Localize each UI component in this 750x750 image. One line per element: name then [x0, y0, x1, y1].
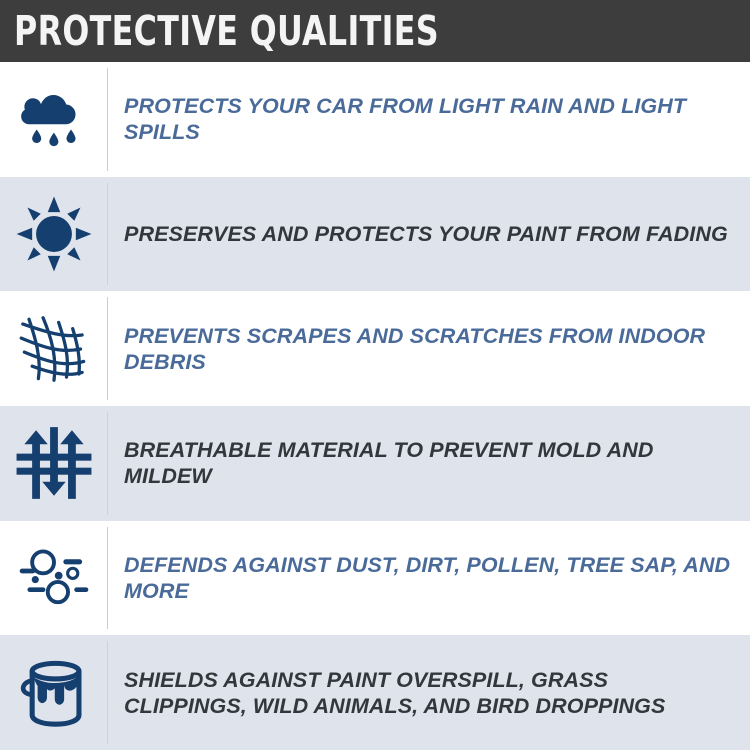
- list-item-label: PROTECTS YOUR CAR FROM LIGHT RAIN AND LI…: [124, 93, 736, 145]
- list-item: PRESERVES AND PROTECTS YOUR PAINT FROM F…: [0, 177, 750, 292]
- icon-cell: [0, 177, 108, 292]
- text-cell: PREVENTS SCRAPES AND SCRATCHES FROM INDO…: [108, 291, 750, 406]
- header-bar: PROTECTIVE QUALITIES: [0, 0, 750, 62]
- list-item-label: BREATHABLE MATERIAL TO PREVENT MOLD AND …: [124, 437, 736, 489]
- sun-icon: [15, 195, 93, 273]
- list-item-label: PRESERVES AND PROTECTS YOUR PAINT FROM F…: [124, 221, 728, 247]
- qualities-list: PROTECTS YOUR CAR FROM LIGHT RAIN AND LI…: [0, 62, 750, 750]
- icon-cell: [0, 291, 108, 406]
- breathable-airflow-icon: [15, 424, 93, 502]
- text-cell: DEFENDS AGAINST DUST, DIRT, POLLEN, TREE…: [108, 521, 750, 636]
- icon-cell: [0, 406, 108, 521]
- paint-can-icon: [15, 654, 93, 732]
- icon-cell: [0, 521, 108, 636]
- protective-qualities-infographic: PROTECTIVE QUALITIES PROTECTS YOUR CAR F…: [0, 0, 750, 750]
- text-cell: SHIELDS AGAINST PAINT OVERSPILL, GRASS C…: [108, 635, 750, 750]
- list-item: PROTECTS YOUR CAR FROM LIGHT RAIN AND LI…: [0, 62, 750, 177]
- dust-particles-icon: [15, 539, 93, 617]
- list-item-label: SHIELDS AGAINST PAINT OVERSPILL, GRASS C…: [124, 667, 736, 719]
- icon-cell: [0, 635, 108, 750]
- text-cell: PROTECTS YOUR CAR FROM LIGHT RAIN AND LI…: [108, 62, 750, 177]
- page-title: PROTECTIVE QUALITIES: [14, 11, 439, 52]
- rain-cloud-icon: [15, 80, 93, 158]
- list-item: BREATHABLE MATERIAL TO PREVENT MOLD AND …: [0, 406, 750, 521]
- icon-cell: [0, 62, 108, 177]
- list-item: SHIELDS AGAINST PAINT OVERSPILL, GRASS C…: [0, 635, 750, 750]
- scratch-mesh-icon: [15, 310, 93, 388]
- list-item: DEFENDS AGAINST DUST, DIRT, POLLEN, TREE…: [0, 521, 750, 636]
- text-cell: PRESERVES AND PROTECTS YOUR PAINT FROM F…: [108, 177, 750, 292]
- list-item-label: PREVENTS SCRAPES AND SCRATCHES FROM INDO…: [124, 323, 736, 375]
- text-cell: BREATHABLE MATERIAL TO PREVENT MOLD AND …: [108, 406, 750, 521]
- list-item-label: DEFENDS AGAINST DUST, DIRT, POLLEN, TREE…: [124, 552, 736, 604]
- list-item: PREVENTS SCRAPES AND SCRATCHES FROM INDO…: [0, 291, 750, 406]
